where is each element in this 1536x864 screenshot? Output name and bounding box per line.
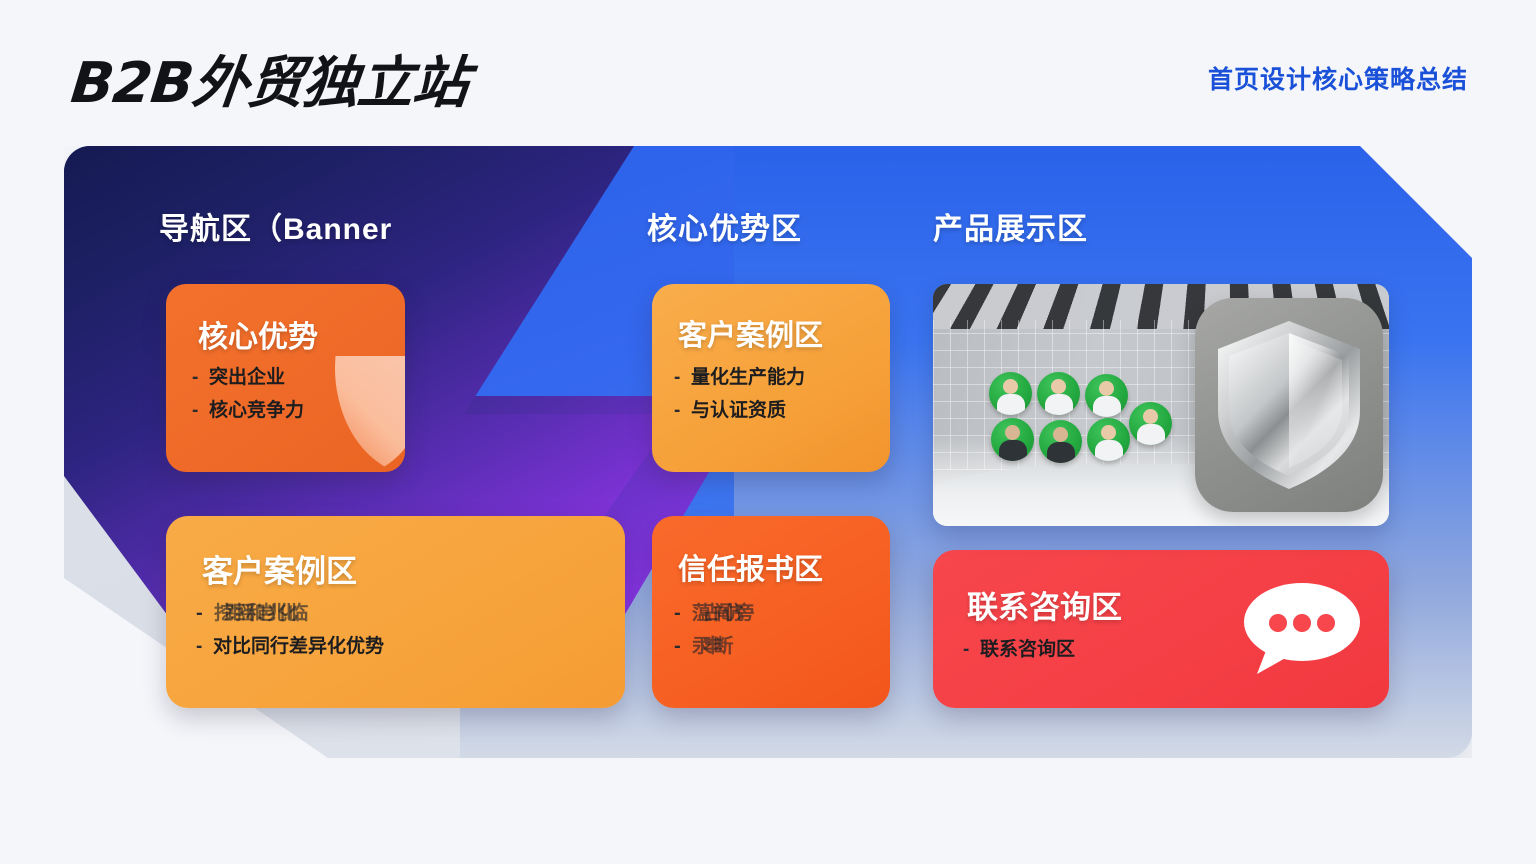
column-heading-nav: 导航区（Banner (159, 204, 392, 248)
card-title: 核心优势 (198, 312, 318, 356)
product-showcase-image (933, 284, 1389, 526)
card-core-advantage[interactable]: 核心优势 突出企业 核心竞争力 (166, 284, 405, 472)
shield-icon (1214, 319, 1364, 491)
list-item: 量化生产能力 (674, 368, 805, 387)
team-avatar-grid (989, 372, 1229, 482)
header-subtitle: 首页设计核心策略总结 (1208, 60, 1468, 96)
card-title: 客户案例区 (678, 312, 823, 354)
list-item: 对比同行差异化优势 (196, 637, 384, 656)
column-heading-product-showcase: 产品展示区 (933, 204, 1088, 248)
chat-bubble-icon (1241, 580, 1363, 676)
page-header: B2B外贸独立站 首页设计核心策略总结 (0, 0, 1536, 140)
card-contact-consulting[interactable]: 联系咨询区 联系咨询区 (933, 550, 1389, 708)
page-title: B2B外贸独立站 (68, 38, 473, 119)
card-customer-cases-left[interactable]: 客户案例区 挖距摇和岜兆化临 对比同行差异化优势 (166, 516, 625, 708)
shield-badge-tile (1195, 298, 1383, 512)
list-item: 汞丰断 (674, 637, 745, 656)
list-item: 联系咨询区 (963, 640, 1075, 659)
card-title: 信任报书区 (678, 546, 823, 588)
strategy-board: 导航区（Banner 核心优势区 产品展示区 核心优势 突出企业 核心竞争力 客… (64, 146, 1472, 758)
avatar (989, 372, 1032, 415)
peel-corner-decoration (315, 356, 405, 472)
card-customer-cases-mid[interactable]: 客户案例区 量化生产能力 与认证资质 (652, 284, 890, 472)
card-bullet-list: 挖距摇和岜兆化临 对比同行差异化优势 (196, 604, 384, 670)
card-trust-report[interactable]: 信任报书区 蕰占阄伉旁 汞丰断 (652, 516, 890, 708)
card-title: 联系咨询区 (967, 582, 1122, 627)
list-item: 与认证资质 (674, 401, 805, 420)
avatar (1037, 372, 1080, 415)
avatar (1085, 374, 1128, 417)
list-item: 挖距摇和岜兆化临 (196, 604, 395, 623)
card-title: 客户案例区 (202, 546, 357, 591)
avatar (1039, 420, 1082, 463)
card-bullet-list: 量化生产能力 与认证资质 (674, 368, 805, 434)
avatar (991, 418, 1034, 461)
card-bullet-list: 突出企业 核心竞争力 (192, 368, 304, 434)
card-bullet-list: 联系咨询区 (963, 640, 1075, 673)
list-item: 蕰占阄伉旁 (674, 604, 745, 623)
list-item: 突出企业 (192, 368, 304, 387)
card-bullet-list: 蕰占阄伉旁 汞丰断 (674, 604, 741, 670)
column-heading-core-advantage: 核心优势区 (647, 204, 802, 248)
avatar (1129, 402, 1172, 445)
list-item: 核心竞争力 (192, 401, 304, 420)
avatar (1087, 418, 1130, 461)
